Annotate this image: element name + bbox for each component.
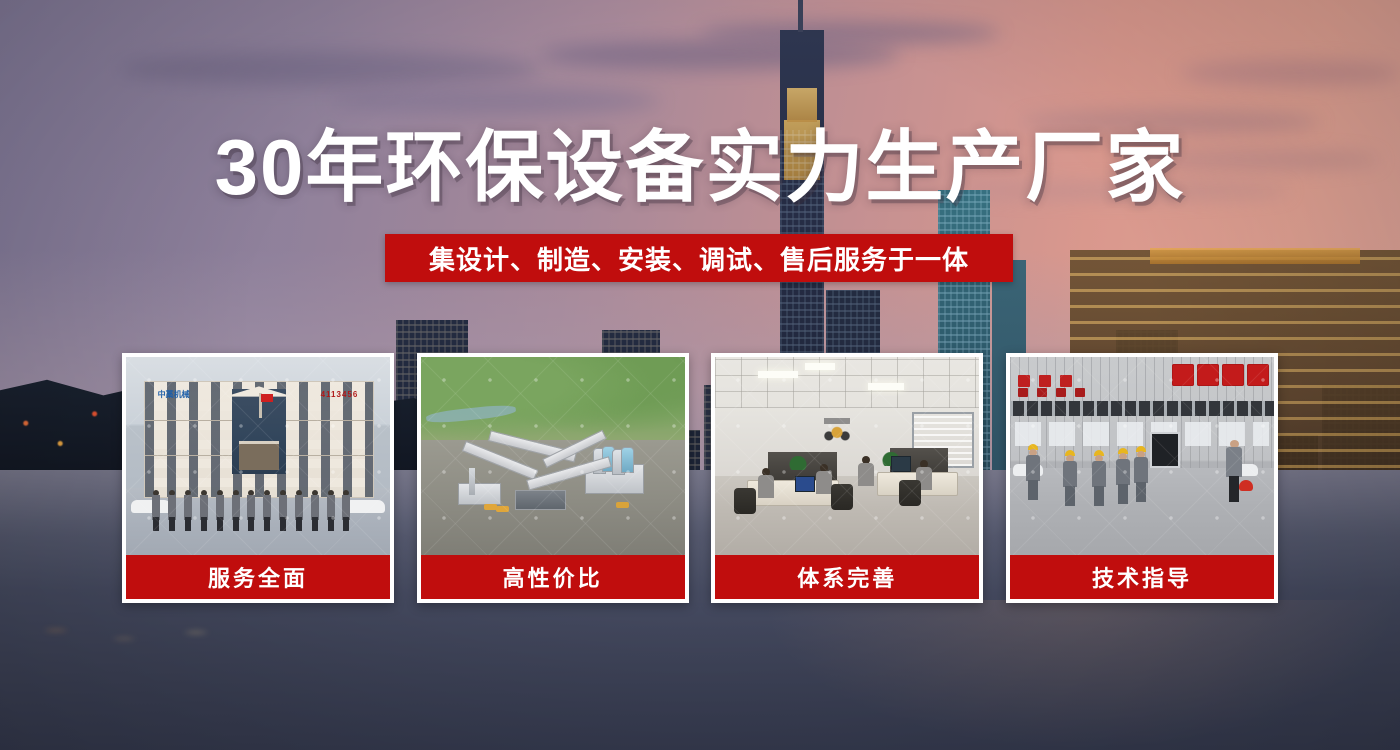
page-title: 30年环保设备实力生产厂家 <box>0 128 1400 206</box>
worker <box>1116 448 1130 504</box>
card-label-system: 体系完善 <box>715 555 979 599</box>
tower-crown-light <box>787 88 817 122</box>
phone-number-sign: 4113456 <box>321 390 359 399</box>
worker <box>1134 446 1148 502</box>
worker <box>1063 450 1077 506</box>
feature-card-service[interactable]: 中藁机械 4113456 <box>122 353 394 603</box>
worker <box>1026 444 1040 500</box>
wall-poster <box>816 418 858 448</box>
card-photo-plant-aerial <box>421 357 685 555</box>
banner-stage: 30年环保设备实力生产厂家 集设计、制造、安装、调试、售后服务于一体 <box>0 0 1400 750</box>
staff-lineup <box>152 490 363 532</box>
card-label-guidance: 技术指导 <box>1010 555 1274 599</box>
red-helmet <box>1239 480 1253 491</box>
water-glow <box>760 600 1400 750</box>
feature-card-system[interactable]: 体系完善 <box>711 353 983 603</box>
subtitle-banner: 集设计、制造、安装、调试、售后服务于一体 <box>385 234 1013 282</box>
feature-card-value[interactable]: 高性价比 <box>417 353 689 603</box>
illuminated-landmark-roof <box>1150 248 1360 264</box>
card-photo-office-interior <box>715 357 979 555</box>
factory-slogan-small <box>1018 385 1129 401</box>
card-photo-company-building: 中藁机械 4113456 <box>126 357 390 555</box>
factory-slogan-large <box>1147 361 1268 389</box>
card-label-value: 高性价比 <box>421 555 685 599</box>
worker <box>1092 450 1106 506</box>
instructor <box>1226 440 1242 502</box>
feature-card-row: 中藁机械 4113456 <box>122 353 1278 603</box>
feature-card-guidance[interactable]: 技术指导 <box>1006 353 1278 603</box>
company-name-sign: 中藁机械 <box>158 389 190 400</box>
water-reflections <box>0 622 400 664</box>
card-photo-worker-briefing <box>1010 357 1274 555</box>
card-label-service: 服务全面 <box>126 555 390 599</box>
building-signage: 中藁机械 4113456 <box>158 385 359 405</box>
